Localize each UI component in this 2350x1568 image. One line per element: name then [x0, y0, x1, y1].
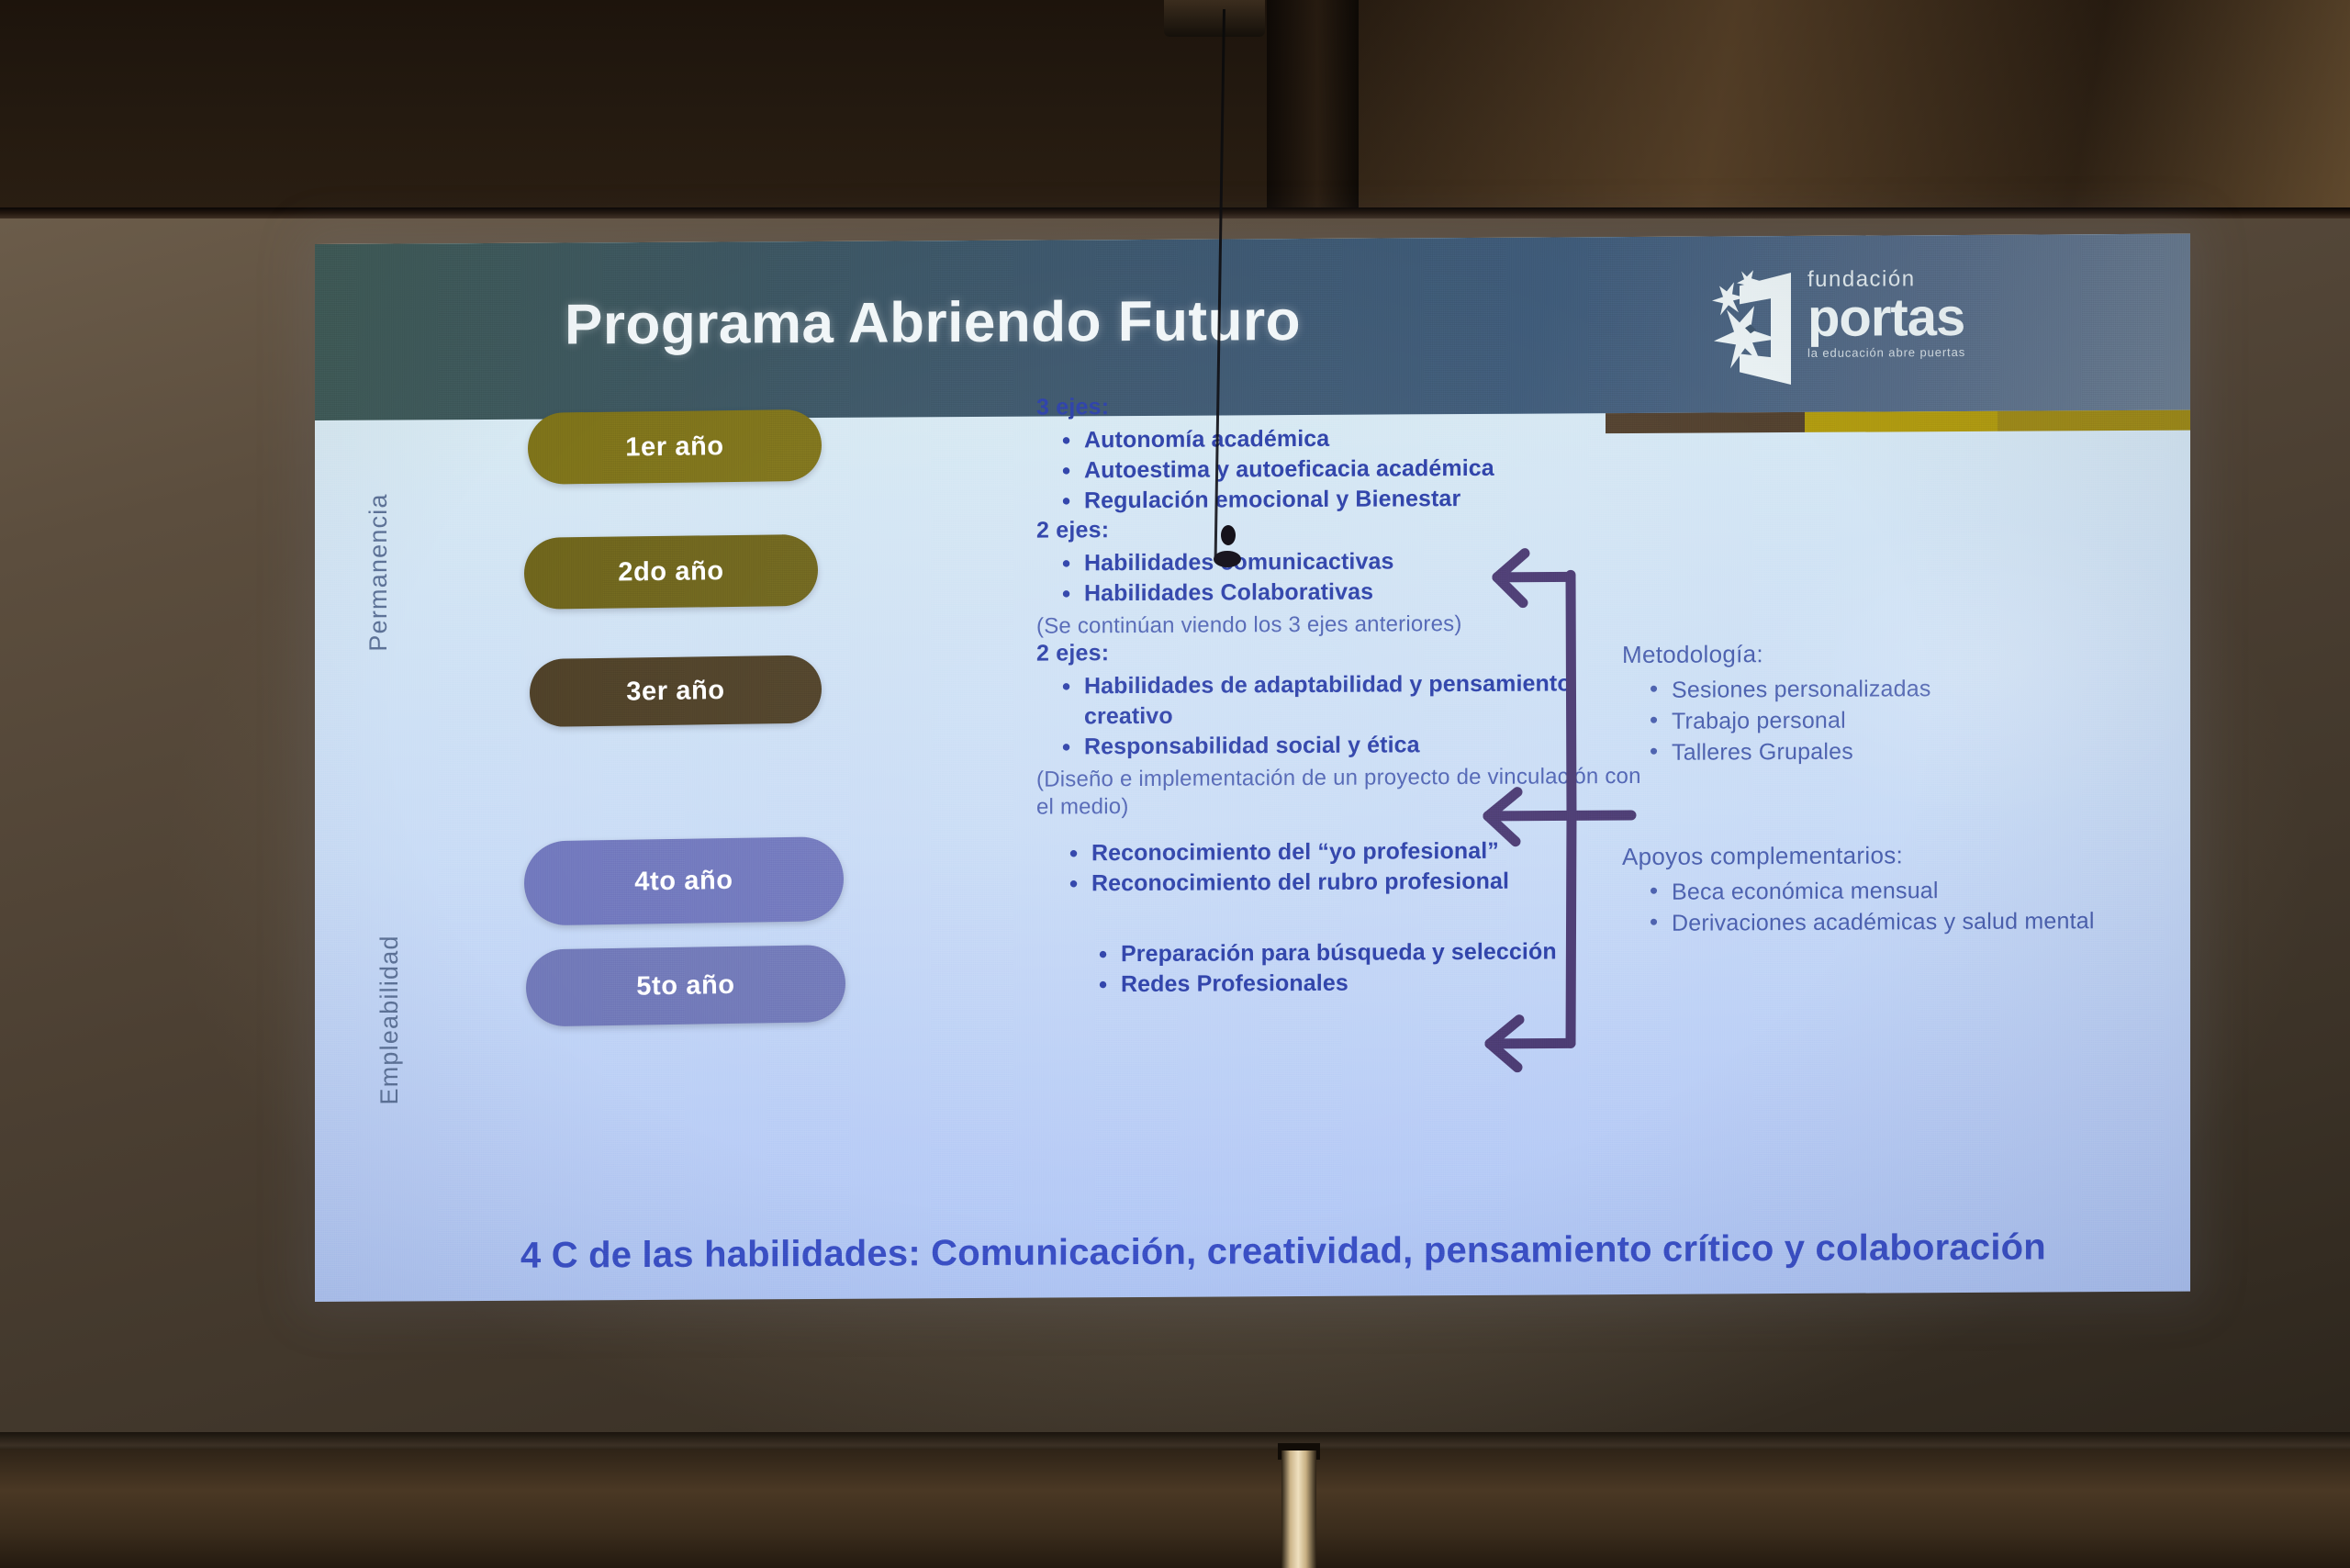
stage-heading: 3 ejes: — [1036, 391, 1606, 420]
cable-bead-upper — [1221, 525, 1236, 545]
accent-segment-brown — [1606, 412, 1805, 433]
list-item: Regulación emocional y Bienestar — [1060, 483, 1606, 516]
ceiling-bracket — [1267, 0, 1359, 213]
accent-segment-gold — [1997, 410, 2190, 431]
logo-tagline: la educación abre puertas — [1807, 345, 2048, 360]
accent-segment-olive — [1805, 411, 1997, 432]
list-item: Beca económica mensual — [1648, 874, 2118, 908]
page-title: Programa Abriendo Futuro — [565, 288, 1301, 357]
floor-post — [1281, 1450, 1316, 1568]
panel-bullet-list: Beca económica mensual Derivaciones acad… — [1648, 874, 2118, 939]
stage-pill-2do-ano: 2do año — [524, 534, 819, 610]
axis-label-permanencia: Permanencia — [364, 493, 393, 651]
slide-footer-banner: 4 C de las habilidades: Comunicación, cr… — [315, 1202, 2190, 1302]
cable-bead-lower — [1214, 551, 1241, 567]
logo-line-portas: portas — [1807, 291, 2048, 343]
upper-wall-sheen — [1267, 0, 2350, 213]
ceiling-bracket-cap — [1164, 0, 1265, 37]
list-item: Derivaciones académicas y salud mental — [1648, 905, 2118, 939]
stage-pill-4to-ano: 4to año — [524, 836, 845, 926]
projection-room-scene: Programa Abriendo Futuro fundación porta… — [0, 0, 2350, 1568]
footer-banner-text: 4 C de las habilidades: Comunicación, cr… — [520, 1226, 2046, 1276]
panel-metodologia: Metodología: Sesiones personalizadas Tra… — [1622, 638, 2099, 768]
panel-heading: Metodología: — [1622, 638, 2099, 669]
header-accent-strip — [1606, 410, 2190, 434]
logo-wordmark: fundación portas la educación abre puert… — [1807, 267, 2048, 360]
stage-pill-5to-ano: 5to año — [526, 945, 846, 1027]
logo-line-fundacion: fundación — [1807, 267, 2048, 290]
panel-heading: Apoyos complementarios: — [1622, 840, 2118, 871]
axis-label-empleabilidad: Empleabilidad — [375, 935, 404, 1104]
bracket-arrows-annotation — [1437, 540, 1675, 1073]
portas-door-star-icon — [1699, 269, 1802, 389]
list-item: Sesiones personalizadas — [1648, 672, 2099, 706]
stage-pill-1er-ano: 1er año — [528, 409, 822, 485]
stage-bullet-list: Autonomía académica Autoestima y autoefi… — [1060, 422, 1606, 516]
panel-apoyos-complementarios: Apoyos complementarios: Beca económica m… — [1622, 840, 2118, 939]
list-item: Trabajo personal — [1648, 703, 2099, 737]
fundacion-portas-logo: fundación portas la educación abre puert… — [1699, 258, 2048, 398]
lower-wall — [0, 1449, 2350, 1568]
stage-pill-3er-ano: 3er año — [530, 655, 822, 728]
presentation-slide: Programa Abriendo Futuro fundación porta… — [315, 234, 2190, 1302]
list-item: Autonomía académica — [1060, 422, 1606, 455]
panel-bullet-list: Sesiones personalizadas Trabajo personal… — [1648, 672, 2099, 768]
stage-content-1er-ano: 3 ejes: Autonomía académica Autoestima y… — [1036, 391, 1606, 516]
list-item: Talleres Grupales — [1648, 734, 2099, 768]
list-item: Autoestima y autoeficacia académica — [1060, 453, 1606, 486]
